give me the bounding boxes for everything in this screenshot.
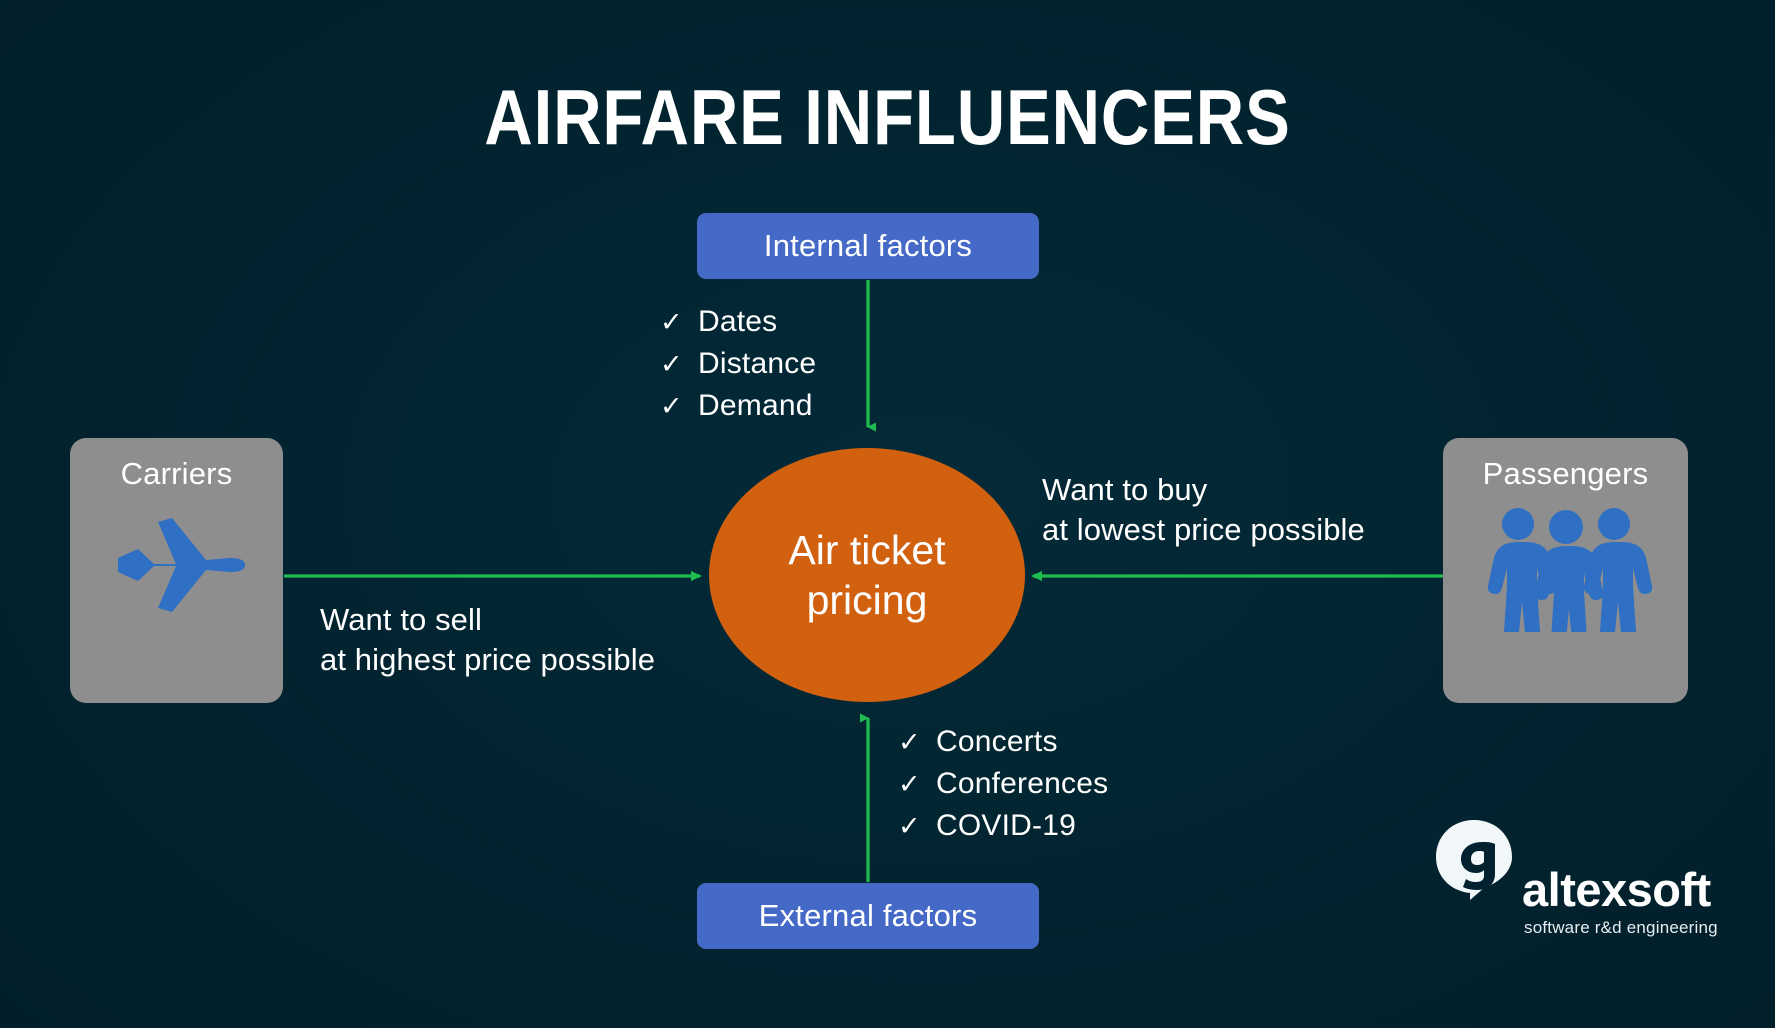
air-ticket-pricing-node[interactable]: Air ticket pricing (709, 448, 1025, 702)
check-icon: ✓ (660, 349, 698, 380)
carriers-annotation-line2: at highest price possible (320, 642, 655, 677)
check-icon: ✓ (660, 391, 698, 422)
list-item-label: COVID-19 (936, 809, 1076, 843)
external-factors-label: External factors (759, 898, 978, 934)
internal-factors-label: Internal factors (764, 228, 972, 264)
passengers-annotation-line2: at lowest price possible (1042, 512, 1365, 547)
altexsoft-bubble-icon (1432, 818, 1516, 907)
passengers-annotation: Want to buy at lowest price possible (1042, 470, 1365, 549)
external-factors-checklist: ✓ Concerts ✓ Conferences ✓ COVID-19 (898, 725, 1108, 851)
check-icon: ✓ (898, 727, 936, 758)
altexsoft-logo: altexsoft software r&d engineering (1432, 818, 1732, 943)
altexsoft-wordmark: altexsoft (1522, 866, 1711, 913)
list-item: ✓ Concerts (898, 725, 1108, 759)
check-icon: ✓ (898, 811, 936, 842)
check-icon: ✓ (660, 307, 698, 338)
passengers-card[interactable]: Passengers (1443, 438, 1688, 703)
airplane-icon (102, 502, 252, 627)
list-item-label: Conferences (936, 767, 1108, 801)
list-item-label: Dates (698, 305, 777, 339)
center-node-label-line2: pricing (807, 577, 928, 623)
list-item-label: Concerts (936, 725, 1058, 759)
page-title: AIRFARE INFLUENCERS (124, 72, 1651, 163)
center-node-label: Air ticket pricing (788, 525, 945, 625)
carriers-card-title: Carriers (121, 456, 233, 492)
list-item: ✓ Dates (660, 305, 816, 339)
carriers-card[interactable]: Carriers (70, 438, 283, 703)
passengers-annotation-line1: Want to buy (1042, 472, 1207, 507)
carriers-annotation: Want to sell at highest price possible (320, 600, 655, 679)
diagram-canvas: AIRFARE INFLUENCERS (0, 0, 1775, 1028)
passengers-card-title: Passengers (1483, 456, 1649, 492)
list-item: ✓ Distance (660, 347, 816, 381)
internal-factors-checklist: ✓ Dates ✓ Distance ✓ Demand (660, 305, 816, 431)
center-node-label-line1: Air ticket (788, 527, 945, 573)
list-item: ✓ COVID-19 (898, 809, 1108, 843)
list-item: ✓ Conferences (898, 767, 1108, 801)
list-item-label: Distance (698, 347, 816, 381)
altexsoft-tagline: software r&d engineering (1524, 918, 1718, 938)
carriers-annotation-line1: Want to sell (320, 602, 482, 637)
check-icon: ✓ (898, 769, 936, 800)
external-factors-box[interactable]: External factors (697, 883, 1039, 949)
list-item: ✓ Demand (660, 389, 816, 423)
internal-factors-box[interactable]: Internal factors (697, 213, 1039, 279)
people-group-icon (1476, 502, 1656, 637)
list-item-label: Demand (698, 389, 813, 423)
